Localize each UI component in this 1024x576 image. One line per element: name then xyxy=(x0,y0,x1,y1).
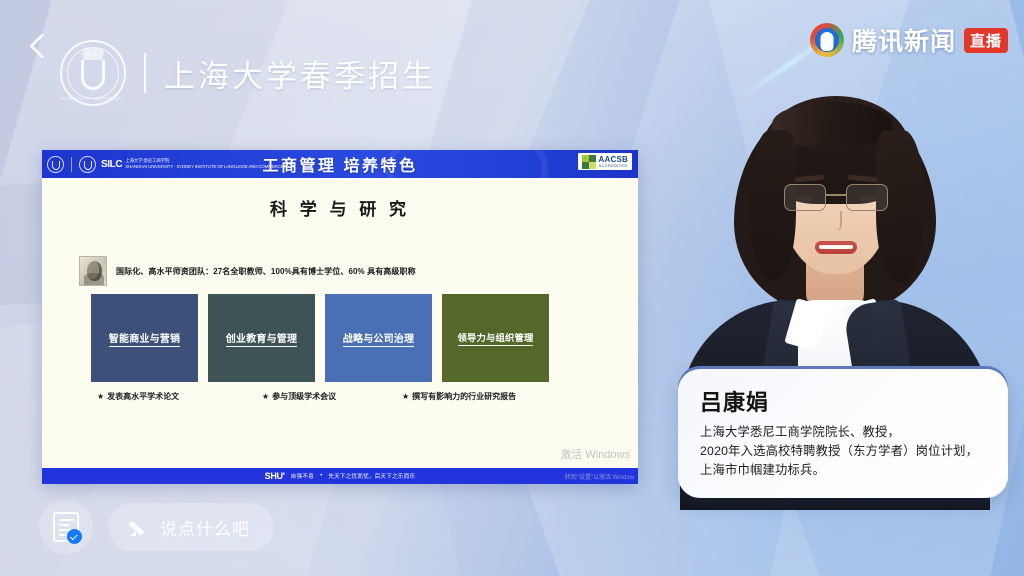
slide-footer-bar: SHU' 自强不息 • 先天下之忧而忧，后天下之乐而乐 转到"设置"以激活 Wi… xyxy=(42,468,638,484)
check-badge-icon xyxy=(67,529,82,544)
presentation-slide[interactable]: SILC 上海大学 悉尼工商学院 SHANGHAI UNIVERSITY · S… xyxy=(42,150,638,484)
presenter-bio-line: 2020年入选高校特聘教授（东方学者）岗位计划， xyxy=(700,442,988,461)
research-area-box[interactable]: 创业教育与管理 xyxy=(208,294,315,382)
outcome-bullet: ★撰写有影响力的行业研究报告 xyxy=(402,391,516,402)
slide-header-bar: SILC 上海大学 悉尼工商学院 SHANGHAI UNIVERSITY · S… xyxy=(42,150,638,178)
slide-title: 科 学 与 研 究 xyxy=(42,195,638,220)
faculty-lead-row: 国际化、高水平师资团队：27名全职教师、100%具有博士学位、60% 具有高级职… xyxy=(79,256,638,286)
portrait-sketch-thumbnail xyxy=(79,256,107,286)
footer-dot: • xyxy=(320,473,322,479)
page-title: 上海大学春季招生 xyxy=(164,51,436,96)
windows-activation-watermark: 激活 Windows xyxy=(560,449,630,462)
research-area-label: 智能商业与营销 xyxy=(109,330,180,347)
presenter-name: 吕康娟 xyxy=(700,385,988,417)
aacsb-sub: ACCREDITED xyxy=(599,164,628,168)
comment-input[interactable]: 说点什么吧 xyxy=(108,503,274,551)
research-area-label: 战略与公司治理 xyxy=(343,330,414,347)
shu-motto-1: 自强不息 xyxy=(291,472,315,480)
shu-abbrev-label: SHU' xyxy=(265,471,285,481)
outcome-bullet: ★发表高水平学术论文 xyxy=(97,391,262,402)
outcome-bullet-label: 发表高水平学术论文 xyxy=(107,392,179,401)
outcome-bullet-label: 参与顶级学术会议 xyxy=(272,392,336,401)
research-area-label: 领导力与组织管理 xyxy=(458,330,534,346)
presenter-bio-card: 吕康娟 上海大学悉尼工商学院院长、教授， 2020年入选高校特聘教授（东方学者）… xyxy=(678,369,1008,498)
document-checklist-button[interactable] xyxy=(39,500,93,554)
slide-header-title: 工商管理 培养特色 xyxy=(42,152,638,176)
shu-motto-2: 先天下之忧而忧，后天下之乐而乐 xyxy=(328,472,415,480)
presenter-bio-line: 上海市巾帼建功标兵。 xyxy=(700,461,988,480)
seal-bottom-label: SHANGHAI UNIVERSITY xyxy=(61,96,124,101)
comment-placeholder: 说点什么吧 xyxy=(160,515,250,540)
aacsb-glyph-icon xyxy=(582,155,596,169)
brand-header: 上海大学 SHANGHAI UNIVERSITY 上海大学春季招生 xyxy=(60,40,436,106)
aacsb-accreditation-logo: AACSB ACCREDITED xyxy=(578,153,632,170)
outcome-bullet-label: 撰写有影响力的行业研究报告 xyxy=(412,392,516,401)
research-area-box[interactable]: 领导力与组织管理 xyxy=(442,294,549,382)
shanghai-university-seal-icon: 上海大学 SHANGHAI UNIVERSITY xyxy=(60,40,126,106)
research-areas-group: 智能商业与营销 创业教育与管理 战略与公司治理 领导力与组织管理 xyxy=(91,294,638,382)
star-icon: ★ xyxy=(97,392,104,401)
presenter-bio-line: 上海大学悉尼工商学院院长、教授， xyxy=(700,423,988,442)
outcome-bullets-group: ★发表高水平学术论文 ★参与顶级学术会议 ★撰写有影响力的行业研究报告 xyxy=(97,391,638,402)
star-icon: ★ xyxy=(262,392,269,401)
windows-activation-line2: 转到"设置"以激活 Window xyxy=(565,472,634,481)
star-icon: ★ xyxy=(402,392,409,401)
research-area-box[interactable]: 战略与公司治理 xyxy=(325,294,432,382)
pencil-icon xyxy=(129,517,149,537)
research-area-label: 创业教育与管理 xyxy=(226,330,297,347)
faculty-lead-text: 国际化、高水平师资团队：27名全职教师、100%具有博士学位、60% 具有高级职… xyxy=(116,266,416,277)
research-area-box[interactable]: 智能商业与营销 xyxy=(91,294,198,382)
document-checklist-icon xyxy=(53,512,79,542)
outcome-bullet: ★参与顶级学术会议 xyxy=(262,391,402,402)
back-chevron-icon[interactable] xyxy=(26,30,52,64)
brand-divider xyxy=(144,53,146,93)
live-stream-screen: 上海大学 SHANGHAI UNIVERSITY 上海大学春季招生 腾讯新闻 直… xyxy=(0,0,1024,576)
eyeglasses-icon xyxy=(784,184,888,212)
windows-activation-line1: 激活 Windows xyxy=(560,449,630,462)
